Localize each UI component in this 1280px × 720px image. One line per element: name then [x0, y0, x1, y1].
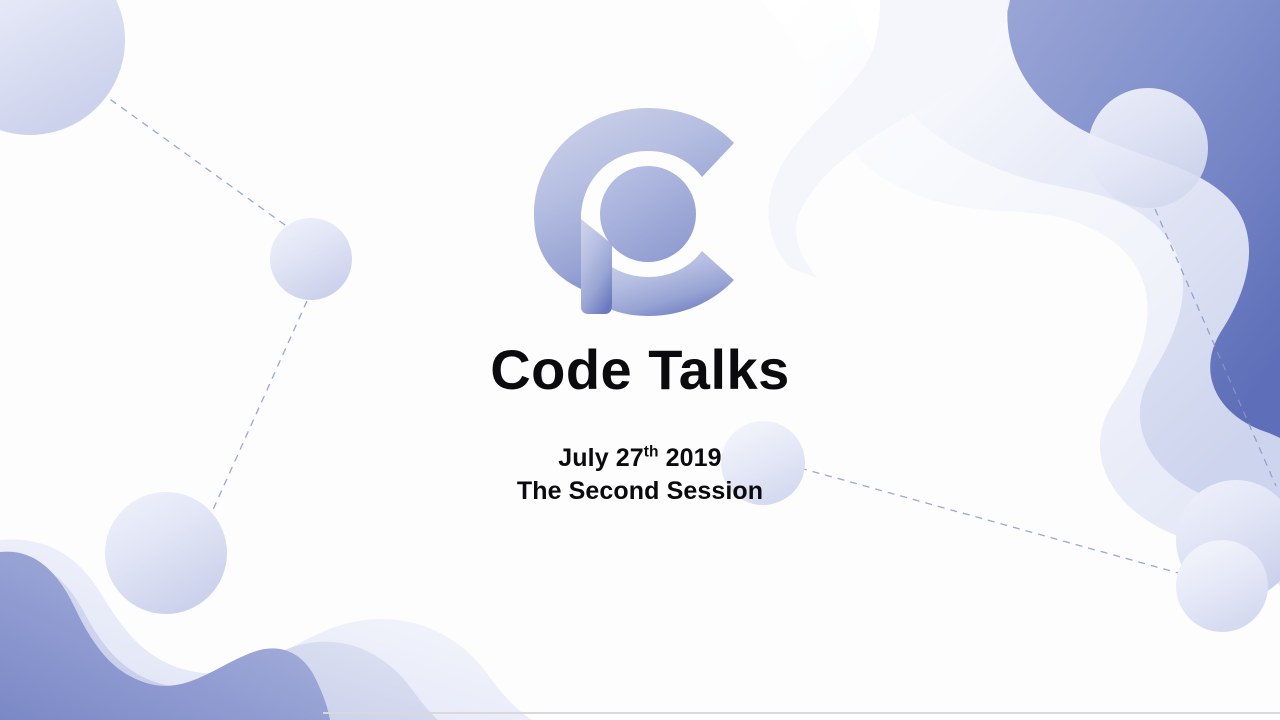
logo-lower-arc: [612, 251, 734, 316]
event-date-ordinal: th: [644, 443, 659, 460]
title-slide: Code Talks July 27th 2019 The Second Ses…: [0, 0, 1280, 720]
bottom-divider: [323, 712, 1280, 714]
code-talks-logo-icon: [530, 104, 750, 319]
event-date-line: July 27th 2019: [517, 442, 763, 475]
slide-content: Code Talks July 27th 2019 The Second Ses…: [0, 0, 1280, 720]
page-title: Code Talks: [490, 341, 790, 400]
logo-inner-dot: [600, 166, 696, 262]
event-date-year: 2019: [666, 444, 722, 472]
subtitle-block: July 27th 2019 The Second Session: [517, 442, 763, 508]
event-date-prefix: July 27: [558, 444, 643, 472]
session-line: The Second Session: [517, 475, 763, 508]
